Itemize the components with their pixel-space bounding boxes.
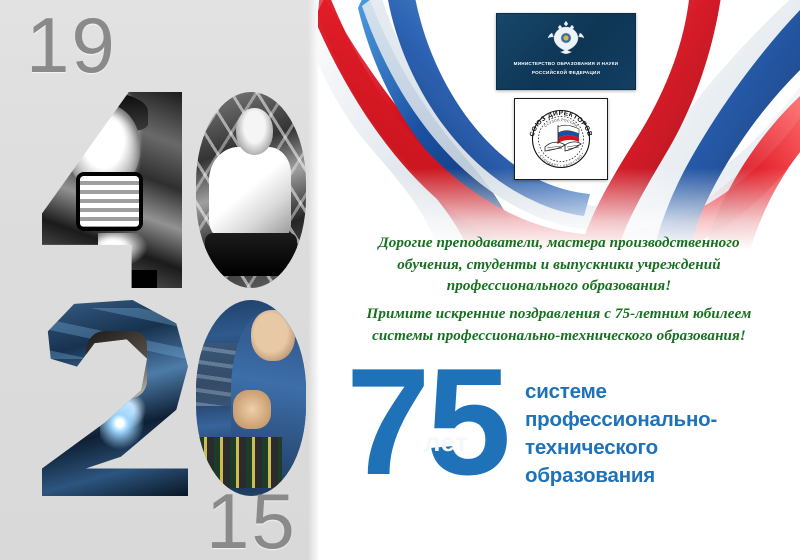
year-start-label: 19 <box>26 6 117 84</box>
right-content-panel: МИНИСТЕРСТВО ОБРАЗОВАНИЯ И НАУКИ РОССИЙС… <box>318 0 800 560</box>
subject-line-3: технического <box>525 434 717 462</box>
ministry-logo-line2: РОССИЙСКОЙ ФЕДЕРАЦИИ <box>514 69 619 78</box>
welding-arc-glow <box>100 402 144 449</box>
subject-line-2: профессионально- <box>525 406 717 434</box>
digit-4-welder-photo <box>42 92 182 288</box>
greeting-line-1: Дорогие преподаватели, мастера производс… <box>320 233 798 255</box>
eagle-emblem-svg <box>546 19 586 57</box>
safety-belt-shape <box>205 233 297 276</box>
left-years-panel: 19 15 <box>0 0 318 560</box>
ministry-logo-text: МИНИСТЕРСТВО ОБРАЗОВАНИЯ И НАУКИ РОССИЙС… <box>514 60 619 77</box>
union-of-directors-seal: СОЮЗ ДИРЕКТОРОВ ССУЗОВ РОССИИ • СТАНДАРТ… <box>525 103 597 175</box>
ministry-logo-line1: МИНИСТЕРСТВО ОБРАЗОВАНИЯ И НАУКИ <box>514 60 619 69</box>
union-of-directors-logo: СОЮЗ ДИРЕКТОРОВ ССУЗОВ РОССИИ • СТАНДАРТ… <box>514 98 608 180</box>
digit-0-student-photo <box>196 300 306 496</box>
welding-mask-shape <box>86 331 147 398</box>
digit-0-electrician-photo <box>196 92 306 288</box>
anniversary-subject-text: системе профессионально- технического об… <box>525 378 717 490</box>
welding-spark-shape <box>98 233 148 268</box>
greeting-text-block: Дорогие преподаватели, мастера производс… <box>320 233 798 348</box>
union-seal-svg: СОЮЗ ДИРЕКТОРОВ ССУЗОВ РОССИИ • СТАНДАРТ… <box>525 103 597 175</box>
subject-line-4: образования <box>525 462 717 490</box>
anniversary-number-75: 75 <box>346 346 507 498</box>
digit-4-foot-bar <box>78 270 156 288</box>
anniversary-years-label: лет <box>424 429 469 455</box>
russian-double-headed-eagle-emblem <box>546 19 586 57</box>
greeting-line-3: профессионального образования! <box>320 276 798 298</box>
year-end-label: 15 <box>206 482 297 560</box>
electrician-torso-shape <box>209 147 290 241</box>
tricolour-flag-shape <box>558 125 579 144</box>
anniversary-poster: 19 15 <box>0 0 800 560</box>
electrician-head-shape <box>236 108 273 155</box>
subject-line-1: системе <box>525 378 717 406</box>
greeting-line-2: обучения, студенты и выпускники учрежден… <box>320 255 798 277</box>
anniversary-lockup: 75 лет системе профессионально- техничес… <box>318 352 800 542</box>
ministry-logo: МИНИСТЕРСТВО ОБРАЗОВАНИЯ И НАУКИ РОССИЙС… <box>496 13 636 90</box>
greeting-line-4: Примите искренние поздравления с 75-летн… <box>320 304 798 326</box>
digit-2-welder-photo <box>42 300 188 496</box>
welder-collar-shape <box>80 176 139 227</box>
student-head-shape <box>251 310 295 361</box>
student-hands-shape <box>233 390 270 429</box>
open-book-shape <box>545 142 581 151</box>
